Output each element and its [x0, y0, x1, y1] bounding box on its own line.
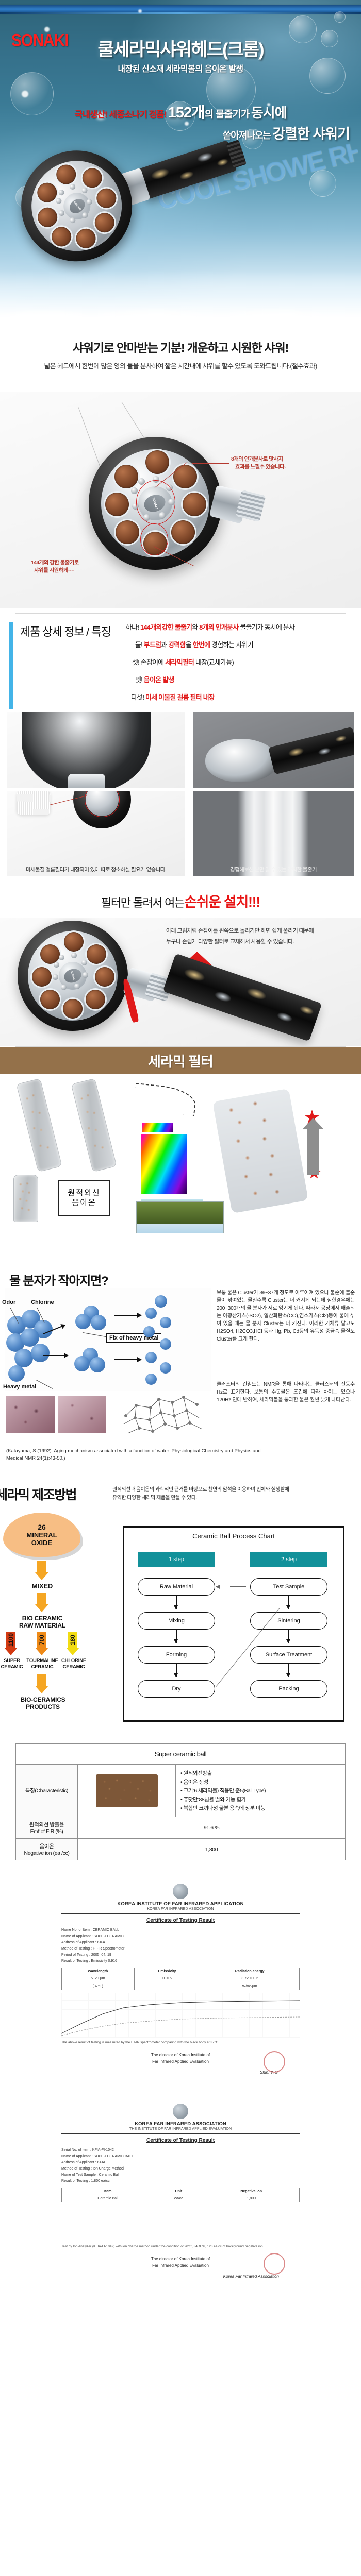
- mist-nozzle: [83, 972, 88, 978]
- detail-number: 넷!: [135, 676, 142, 684]
- nozzle: [173, 465, 197, 488]
- shower-head-body: SONAKI: [7, 136, 146, 276]
- water-section-title: 물 분자가 작아지면?: [0, 1264, 361, 1289]
- cert1-spectrum-curve: [61, 1993, 300, 2038]
- chart-node-raw-material: Raw Material: [138, 1578, 215, 1596]
- cert1-signature: Shin, Y. S.: [61, 2070, 300, 2075]
- spec-feature: • 퓨닷만:88넘뷸 벌와 가능 힘가: [180, 1795, 340, 1803]
- cert-td: Ceramic Ball: [62, 2195, 154, 2202]
- water-molecule: [160, 1317, 171, 1328]
- cert2-spacer: [61, 2206, 300, 2242]
- closeup-photos-row: [0, 709, 361, 791]
- final-line1: BIO-CERAMICS: [4, 1696, 81, 1703]
- nozzle: [87, 944, 106, 964]
- detail-number: 하나!: [126, 623, 139, 631]
- detail-text: 부드럼: [144, 641, 161, 649]
- chrome-head: [205, 739, 277, 782]
- nozzle: [40, 990, 60, 1009]
- label-odor: Odor: [2, 1299, 15, 1306]
- cert-field-value: SUPER CERAMIC BALL: [94, 2155, 134, 2158]
- chart-arrow: [176, 1630, 177, 1643]
- filter-jet-photos-row: 미세물질 걸름필터가 내장되어 있어 따로 청소하실 필요가 없습니다. 경험해…: [0, 791, 361, 882]
- certificate-logo: [173, 1884, 188, 1899]
- cert2-seal: [264, 2253, 285, 2275]
- install-face-plate: SONAKI: [28, 931, 118, 1021]
- up-arrow-stem: [307, 1127, 319, 1175]
- chart-node-sintering: Sintering: [250, 1612, 327, 1630]
- details-row: 제품 상세 정보 / 특징 하나! 144개의강한 물줄기와 8개의 안개분사 …: [0, 614, 361, 709]
- ceramic-tube-2: [71, 1078, 117, 1172]
- cert-table-header-row: Wavelength Emissivity Radiation energy: [62, 1968, 300, 1975]
- leader-line-jet: [97, 566, 154, 566]
- ir-line-2: 음이온: [72, 1198, 96, 1208]
- microscope-image-1: [6, 1396, 55, 1433]
- water-paragraph-2: 클러스터의 긴밀도는 NMR을 통해 나타나는 클러스터의 진동수 Hz로 표기…: [217, 1381, 355, 1404]
- temp-arrow-700: 700: [35, 1632, 48, 1655]
- nozzle: [95, 967, 114, 987]
- label-heavy-metal: Heavy metal: [3, 1384, 36, 1390]
- cert-field-key: Period of Testing: [61, 1953, 88, 1957]
- chart-step-1-header: 1 step: [138, 1552, 215, 1567]
- mist-nozzle: [58, 189, 65, 196]
- cert-th: Emissivity: [134, 1968, 200, 1975]
- cert-field-key: Name No. of Item: [61, 1928, 90, 1932]
- nozzle: [116, 520, 139, 544]
- chart-arrow: [288, 1630, 289, 1643]
- chart-step-2-header: 2 step: [250, 1552, 327, 1567]
- cert1-org-line2: KOREA FAR INFRARED ASSOCIATION: [61, 1907, 300, 1911]
- final-line2: PRODUCTS: [4, 1703, 81, 1710]
- mist-nozzle: [131, 487, 138, 494]
- cert-th: Unit: [154, 2188, 203, 2195]
- install-headline: 필터만 돌려서 여는손쉬운 설치!!!: [0, 882, 361, 911]
- install-desc-line2: 누구나 손쉽게 다양한 필터로 교체해서 사용할 수 있습니다.: [166, 937, 314, 947]
- temp-value-180: 180: [69, 1633, 76, 1647]
- lattice-svg: [117, 1392, 208, 1439]
- cert1-field-row: Name of Applicant : SUPER CERAMIC: [61, 1934, 300, 1940]
- detail-item: 하나! 144개의강한 물줄기와 8개의 안개분사 물줄기가 동시에 분사: [126, 622, 355, 632]
- cert-th: Negative ion: [203, 2188, 300, 2195]
- nozzle: [63, 999, 83, 1019]
- water-molecule: [14, 1349, 33, 1367]
- cert1-result-table: Wavelength Emissivity Radiation energy 5…: [61, 1968, 300, 1990]
- emf-label-line1: 원적외선 방출율: [21, 1821, 73, 1828]
- process-arrow: [114, 1315, 141, 1316]
- cert2-org-line2: THE INSTITUTE OF FAR INFRARED APPLIED EV…: [61, 2127, 300, 2131]
- nozzle: [64, 932, 84, 952]
- chart-node-test-sample: Test Sample: [250, 1578, 327, 1596]
- product-detail-page: SONAKI 쿨세라믹샤워헤드(크롬) 내장된 신소재 세라믹볼의 음이온 발생…: [0, 0, 361, 2307]
- cert-field-value: 1,800 ea/cc: [91, 2179, 109, 2183]
- cert-field-value: SUPER CERAMIC: [94, 1935, 124, 1938]
- water-paragraph-1: 보통 물은 Cluster가 36~37개 정도로 이루어져 있으나 불순에 불…: [217, 1289, 355, 1343]
- shower-face-plate: SONAKI: [20, 149, 134, 263]
- detail-number: 둘!: [135, 641, 142, 649]
- annotation-mist-line2: 효과를 느낄수 있습니다.: [231, 463, 286, 471]
- cert-td: 1,800: [203, 2195, 300, 2202]
- nozzle: [86, 990, 105, 1009]
- spec-ball-image-cell: [78, 1765, 176, 1817]
- mist-nozzle: [81, 960, 87, 965]
- cert-field-key: Address of Applicant: [61, 1941, 94, 1944]
- massage-section: 샤워기로 안마받는 기분! 개운하고 시원한 샤워! 넓은 헤드에서 한번에 많…: [0, 330, 361, 392]
- cert-table-header-row: Item Unit Negative ion: [62, 2188, 300, 2195]
- nozzle: [114, 465, 138, 488]
- microscope-image-2: [58, 1396, 106, 1433]
- annotation-mist-line1: 8개의 안개분사로 맛사지: [231, 455, 286, 463]
- cert-field-key: Method of Testing: [61, 1947, 90, 1951]
- cert-table-row: Ceramic Ball ea/cc 1,800: [62, 2195, 300, 2202]
- manufacturing-title: 세라믹 제조방법: [0, 1485, 76, 1503]
- mist-nozzle: [81, 187, 88, 194]
- spec-negative-ion-row: 음이온 Negative ion (ea /cc) 1,800: [16, 1839, 346, 1860]
- chart-feedback-arrow: [216, 1586, 249, 1587]
- neg-label-line1: 음이온: [21, 1842, 73, 1850]
- ceramic-beads: [20, 1082, 59, 1168]
- nozzle: [171, 520, 195, 544]
- detail-text: 와: [192, 623, 199, 631]
- hero-top-line: [0, 12, 361, 14]
- manufacturing-desc-line1: 원적외선과 음이온의 과학적인 근거를 바탕으로 천연의 암석을 이용하여 인체…: [112, 1486, 355, 1494]
- ceramic-ball-image: [96, 1774, 158, 1807]
- product-details-section: 제품 상세 정보 / 특징 하나! 144개의강한 물줄기와 8개의 안개분사 …: [0, 614, 361, 709]
- cert1-org-line1: KOREA INSTITUTE OF FAR INFRARED APPLICAT…: [61, 1901, 300, 1907]
- cloud-band: [0, 270, 361, 330]
- annotation-jet-line2: 샤워를 시원하게~~: [31, 567, 79, 574]
- cert2-field-row: Serial No. of Item : KFIA-FI-1042: [61, 2147, 300, 2154]
- jet-photo-caption: 경험해보신 분만 알 수 있는 강력한 물줄기: [193, 866, 354, 873]
- detail-item: 다섯! 미세 이물질 걸름 필터 내장: [126, 692, 355, 702]
- spec-table: Super ceramic ball 특징(Characteristic) • …: [15, 1743, 346, 1860]
- leader-line: [36, 1380, 53, 1389]
- nozzle: [49, 224, 74, 249]
- cert-th: Item: [62, 2188, 154, 2195]
- water-molecule: [74, 1356, 90, 1371]
- cert1-field-row: Address of Applicant : KIFA: [61, 1940, 300, 1946]
- install-emphasis-text: 손쉬운 설치!!!: [184, 894, 260, 910]
- up-arrow-tip: [302, 1118, 324, 1129]
- detail-text: 한번에: [193, 641, 210, 649]
- detail-text: 음이온 발생: [144, 676, 174, 684]
- detail-text: 물줄기가 동시에 분사: [238, 623, 294, 631]
- detail-text: 세라믹필터: [165, 658, 194, 666]
- install-photo-section: 아래 그림처럼 손잡이를 왼쪽으로 돌리기만 하면 쉽게 풀리기 때문에 누구나…: [0, 918, 361, 1046]
- chlorine-line2: CERAMIC: [55, 1664, 93, 1670]
- mineral-count: 26: [38, 1523, 46, 1531]
- patterned-handle: [268, 726, 354, 774]
- thermal-body-image: [141, 1134, 187, 1194]
- process-arrow: [114, 1359, 141, 1360]
- cert-field-key: Address of Applicant: [61, 2161, 94, 2164]
- nozzle: [145, 450, 169, 474]
- spec-feature: • 원적외선방출: [180, 1769, 340, 1777]
- chart-arrow: [176, 1596, 177, 1609]
- mineral-label-1: MINERAL: [26, 1531, 57, 1539]
- certificate-1-section: KOREA INSTITUTE OF FAR INFRARED APPLICAT…: [0, 1874, 361, 2098]
- install-lead-text: 필터만 돌려서 여는: [101, 896, 184, 909]
- detail-text: 과: [161, 641, 168, 649]
- spec-table-section: Super ceramic ball 특징(Characteristic) • …: [0, 1738, 361, 1874]
- cert2-note: Test by Ion Analyzer (KFIA-FI-1042) with…: [61, 2244, 300, 2249]
- cert2-field-row: Method of Testing : Ion Charge Method: [61, 2166, 300, 2172]
- detail-text: 손잡이에: [141, 658, 165, 666]
- annotated-product-photo: SONAKI 8개의 안개분사로 맛사지 효과를 느낄수 있습니다. 144개의…: [0, 392, 361, 608]
- step-raw-material-label: BIO CERAMIC RAW MATERIAL: [6, 1615, 78, 1629]
- shower-handle: [137, 140, 237, 200]
- nozzle: [92, 210, 117, 235]
- mist-nozzle: [61, 985, 67, 990]
- water-molecule: [155, 1295, 167, 1308]
- detail-item: 둘! 부드럼과 강력함을 한번에 경험하는 샤워기: [126, 639, 355, 649]
- cert1-field-row: Result of Testing : Emissivity 0.916: [61, 1958, 300, 1964]
- detail-text: 미세 이물질 걸름 필터 내장: [145, 693, 215, 701]
- thermal-scale: [142, 1123, 173, 1132]
- annotation-jet: 144개의 강한 물줄기로 샤워를 시원하게~~: [31, 559, 79, 574]
- cert-td: [134, 1982, 200, 1990]
- ceramic-pellet-column: [212, 1089, 308, 1214]
- spec-features-cell: • 원적외선방출 • 음이온 생성 • 크기:6.세라믹볼) 직용만 준5(Ba…: [176, 1765, 346, 1817]
- raw-material-line2: RAW MATERIAL: [6, 1622, 78, 1629]
- cert-field-value: FT-IR Spectrometer: [93, 1947, 124, 1951]
- leader-line: [83, 1332, 106, 1337]
- cert-field-key: Name of Applicant: [61, 1935, 91, 1938]
- product-chlorine-ceramic: CHLORINE CERAMIC: [55, 1658, 93, 1670]
- annotation-mist: 8개의 안개분사로 맛사지 효과를 느낄수 있습니다.: [231, 455, 286, 471]
- mist-nozzle: [59, 955, 64, 960]
- detail-text: 을: [186, 641, 193, 649]
- cert2-result-table: Item Unit Negative ion Ceramic Ball ea/c…: [61, 2188, 300, 2202]
- chlorine-line1: CHLORINE: [55, 1658, 93, 1664]
- install-desc-line1: 아래 그림처럼 손잡이를 왼쪽으로 돌리기만 하면 쉽게 풀리기 때문에: [166, 926, 314, 937]
- spec-emf-row: 원적외선 방출율 Emf of FIR (%) 91.6 %: [16, 1817, 346, 1839]
- nozzle: [74, 226, 99, 251]
- nozzle: [32, 967, 52, 987]
- chrome-neck: [68, 774, 105, 788]
- cert2-heading: Certificate of Testing Result: [61, 2138, 300, 2143]
- spec-char-label: 특징(Characteristic): [16, 1765, 78, 1817]
- spec-title: Super ceramic ball: [16, 1744, 346, 1765]
- bubble-dot: [138, 9, 142, 13]
- mist-nozzle: [71, 953, 77, 958]
- spec-emf-value: 91.6 %: [78, 1817, 346, 1839]
- nozzle: [80, 165, 105, 190]
- cert-field-value: CERAMIC BALL: [93, 1928, 119, 1932]
- ceramic-filter-banner: 세라믹 필터: [0, 1047, 361, 1074]
- cert-field-key: Name of Test Sample: [61, 2173, 96, 2177]
- cert-field-value: KFIA: [97, 2161, 106, 2164]
- mist-nozzle: [54, 962, 59, 968]
- temp-arrow-1100: 1100: [4, 1632, 18, 1655]
- manufacturing-section: 세라믹 제조방법 원적외선과 음이온의 과학적인 근거를 바탕으로 천연의 암석…: [0, 1481, 361, 1738]
- cert-field-value: 2005. 04. 19: [91, 1953, 111, 1957]
- chart-node-forming: Forming: [138, 1646, 215, 1664]
- cert-divider: [61, 2133, 300, 2134]
- cert-field-key: Result of Testing: [61, 2179, 88, 2183]
- certificate-logo: [173, 2104, 188, 2119]
- water-molecule: [8, 1365, 25, 1382]
- water-molecule: [143, 1326, 155, 1337]
- cert-field-value: Ceramic Ball: [99, 2173, 120, 2177]
- raw-material-line1: BIO CERAMIC: [6, 1615, 78, 1622]
- cert-field-value: KIFA: [97, 1941, 105, 1944]
- hero-title: 쿨세라믹샤워헤드(크롬): [0, 35, 361, 61]
- spec-feature: • 복합반 크끼다성 물분 용속에 상분 미능: [180, 1804, 340, 1812]
- cert-field-value: KFIA-FI-1042: [92, 2148, 114, 2152]
- detail-text: 144개의강한 물줄기: [140, 623, 192, 631]
- hero-top-bar: [0, 5, 361, 12]
- filter-photo-caption: 미세물질 걸름필터가 내장되어 있어 따로 청소하실 필요가 없습니다.: [7, 866, 185, 873]
- water-molecule: [145, 1352, 157, 1363]
- hero-simultaneous: 동시에: [251, 105, 287, 121]
- certificate-2-section: KOREA FAR INFRARED ASSOCIATION THE INSTI…: [0, 2098, 361, 2307]
- nozzle: [35, 205, 60, 230]
- chart-node-dry: Dry: [138, 1680, 215, 1698]
- spec-neg-label: 음이온 Negative ion (ea /cc): [16, 1839, 78, 1860]
- cert-field-key: Serial No. of Item: [61, 2148, 89, 2152]
- cert-table-row: (37℃) W/m²·μm: [62, 1982, 300, 1990]
- ir-line-1: 원적외선: [68, 1188, 100, 1198]
- cert2-field-row: Address of Applicant : KFIA: [61, 2160, 300, 2166]
- spec-title-row: Super ceramic ball: [16, 1744, 346, 1765]
- temp-value-700: 700: [38, 1633, 45, 1647]
- water-molecule: [145, 1374, 157, 1385]
- emf-label-line2: Emf of FIR (%): [21, 1828, 73, 1835]
- water-molecule: [91, 1315, 106, 1330]
- detail-text: 내장(교체가능): [194, 658, 234, 666]
- cert-td: 3.72 × 10²: [200, 1975, 300, 1982]
- detail-text: 8개의 안개분사: [199, 623, 238, 631]
- dashed-connector: [133, 1083, 198, 1116]
- cert-td: 5~20 μm: [62, 1975, 135, 1982]
- cert-th: Radiation energy: [200, 1968, 300, 1975]
- hero-powerful-shower: 강렬한 샤워기: [272, 126, 350, 142]
- cert2-field-row: Name of Applicant : SUPER CERAMIC BALL: [61, 2154, 300, 2160]
- bubble-dot: [22, 91, 28, 97]
- cert1-field-row: Name No. of Item : CERAMIC BALL: [61, 1927, 300, 1934]
- cert-td: 0.916: [134, 1975, 200, 1982]
- ceramic-tube-1: [16, 1078, 62, 1172]
- install-handle: [162, 953, 322, 1041]
- ceramic-beads: [17, 1178, 35, 1219]
- cert1-note: The above result of testing is measured …: [61, 2040, 300, 2045]
- temp-arrow-180: 180: [66, 1632, 79, 1655]
- cert-field-value: Emissivity 0.916: [91, 1959, 117, 1963]
- chart-node-mixing: Mixing: [138, 1612, 215, 1630]
- manufacturing-desc: 원적외선과 음이온의 과학적인 근거를 바탕으로 천연의 암석을 이용하여 인체…: [112, 1486, 355, 1502]
- spec-characteristics-row: 특징(Characteristic) • 원적외선방출 • 음이온 생성 • 크…: [16, 1765, 346, 1817]
- water-molecule: [145, 1308, 157, 1319]
- water-molecule-section: 물 분자가 작아지면? Odor Chlorine Heavy metal: [0, 1264, 361, 1481]
- mineral-oxide-cloud: 26 MINERAL OXIDE: [3, 1513, 80, 1557]
- water-molecule: [75, 1314, 91, 1329]
- water-citation: (Katayama, S (1992). Aging mechanism ass…: [6, 1448, 274, 1462]
- flow-arrow-1: [35, 1561, 48, 1580]
- nozzle: [105, 493, 129, 516]
- ceramic-tube-3: [13, 1175, 38, 1222]
- hero-pour-text: 쏟아져나오는: [223, 130, 271, 141]
- jet-photo: 경험해보신 분만 알 수 있는 강력한 물줄기: [193, 791, 354, 876]
- spec-feature: • 크기:6.세라믹볼) 직용만 준5(Ball Type): [180, 1787, 340, 1794]
- chart-node-packing: Packing: [250, 1680, 327, 1698]
- nozzle: [54, 162, 78, 187]
- filter-photo: 미세물질 걸름필터가 내장되어 있어 따로 청소하실 필요가 없습니다.: [7, 791, 185, 876]
- cert2-org-line1: KOREA FAR INFRARED ASSOCIATION: [61, 2121, 300, 2127]
- cert-field-key: Method of Testing: [61, 2167, 90, 2171]
- hero-subtitle: 내장된 신소재 세라믹볼의 음이온 발생: [0, 62, 361, 74]
- install-headline-section: 필터만 돌려서 여는손쉬운 설치!!!: [0, 882, 361, 918]
- cert1-graph-area: [61, 1993, 300, 2038]
- hero-banner: SONAKI 쿨세라믹샤워헤드(크롬) 내장된 신소재 세라믹볼의 음이온 발생…: [0, 0, 361, 330]
- promo-thumbnail: [136, 1201, 224, 1233]
- certificate-2: KOREA FAR INFRARED ASSOCIATION THE INSTI…: [52, 2098, 309, 2286]
- water-molecule: [90, 1357, 105, 1372]
- manufacturing-desc-line2: 유익한 다양한 세라믹 제품을 만들 수 있다.: [112, 1494, 355, 1502]
- mist-nozzle: [69, 183, 76, 190]
- mist-nozzle: [55, 197, 62, 205]
- ceramic-process-chart: Ceramic Ball Process Chart 1 step 2 step…: [123, 1526, 344, 1722]
- water-molecule: [160, 1338, 171, 1350]
- cert1-heading: Certificate of Testing Result: [61, 1918, 300, 1923]
- details-title: 제품 상세 정보 / 특징: [20, 622, 126, 709]
- install-description: 아래 그림처럼 손잡이를 왼쪽으로 돌리기만 하면 쉽게 풀리기 때문에 누구나…: [166, 926, 314, 947]
- details-list: 하나! 144개의강한 물줄기와 8개의 안개분사 물줄기가 동시에 분사 둘!…: [126, 622, 361, 709]
- bio-ceramics-products-label: BIO-CERAMICS PRODUCTS: [4, 1696, 81, 1710]
- chart-arrow: [176, 1664, 177, 1677]
- detail-text: 경험하는 샤워기: [210, 641, 253, 649]
- closeup-photo-right: [193, 712, 354, 788]
- detail-text: 강력함: [168, 641, 185, 649]
- nozzle: [40, 944, 60, 964]
- mesh-filter-closeup: [17, 791, 51, 815]
- mist-nozzle: [74, 984, 80, 989]
- chart-arrow: [288, 1596, 289, 1609]
- details-accent-bar: [9, 622, 13, 709]
- spec-neg-value: 1,800: [78, 1839, 346, 1860]
- chart-arrow: [288, 1664, 289, 1677]
- cert-td: W/m²·μm: [200, 1982, 300, 1990]
- massage-headline: 샤워기로 안마받는 기분! 개운하고 시원한 샤워!: [0, 330, 361, 355]
- spec-features-list: • 원적외선방출 • 음이온 생성 • 크기:6.세라믹볼) 직용만 준5(Ba…: [180, 1769, 340, 1812]
- process-arrow: [43, 1355, 68, 1356]
- promo-thumb-section: [0, 1228, 361, 1264]
- ceramic-beads: [75, 1082, 113, 1168]
- flow-arrow-2: [35, 1593, 48, 1612]
- bubble-decoration: [334, 11, 346, 23]
- certificate-1: KOREA INSTITUTE OF FAR INFRARED APPLICAT…: [52, 1878, 309, 2082]
- nozzle: [183, 493, 206, 516]
- water-molecule: [31, 1344, 50, 1362]
- temp-value-1100: 1100: [7, 1633, 14, 1647]
- cert-field-key: Result of Testing: [61, 1959, 88, 1963]
- massage-subline: 넓은 헤드에서 한번에 많은 양의 물을 분사하여 짧은 시간내에 샤워를 할수…: [0, 355, 361, 370]
- far-infrared-box: 원적외선 음이온: [58, 1180, 110, 1216]
- flow-arrow-3: [35, 1674, 48, 1693]
- cert-td: (37℃): [62, 1982, 135, 1990]
- cert-field-key: Name of Applicant: [61, 2155, 91, 2158]
- cert2-field-row: Result of Testing : 1,800 ea/cc: [61, 2178, 300, 2184]
- water-molecule: [160, 1362, 171, 1374]
- detail-number: 다섯!: [131, 693, 144, 701]
- cert2-fields: Serial No. of Item : KFIA-FI-1042 Name o…: [61, 2147, 300, 2184]
- chart-node-surface-treatment: Surface Treatment: [250, 1646, 327, 1664]
- cert1-field-row: Period of Testing : 2005. 04. 19: [61, 1952, 300, 1958]
- cert1-fields: Name No. of Item : CERAMIC BALL Name of …: [61, 1927, 300, 1964]
- cert-divider: [61, 1913, 300, 1914]
- annotation-jet-line1: 144개의 강한 물줄기로: [31, 559, 79, 567]
- cert-table-row: 5~20 μm 0.916 3.72 × 10²: [62, 1975, 300, 1982]
- detail-item: 셋! 손잡이에 세라믹필터 내장(교체가능): [126, 657, 355, 667]
- spec-feature: • 음이온 생성: [180, 1778, 340, 1786]
